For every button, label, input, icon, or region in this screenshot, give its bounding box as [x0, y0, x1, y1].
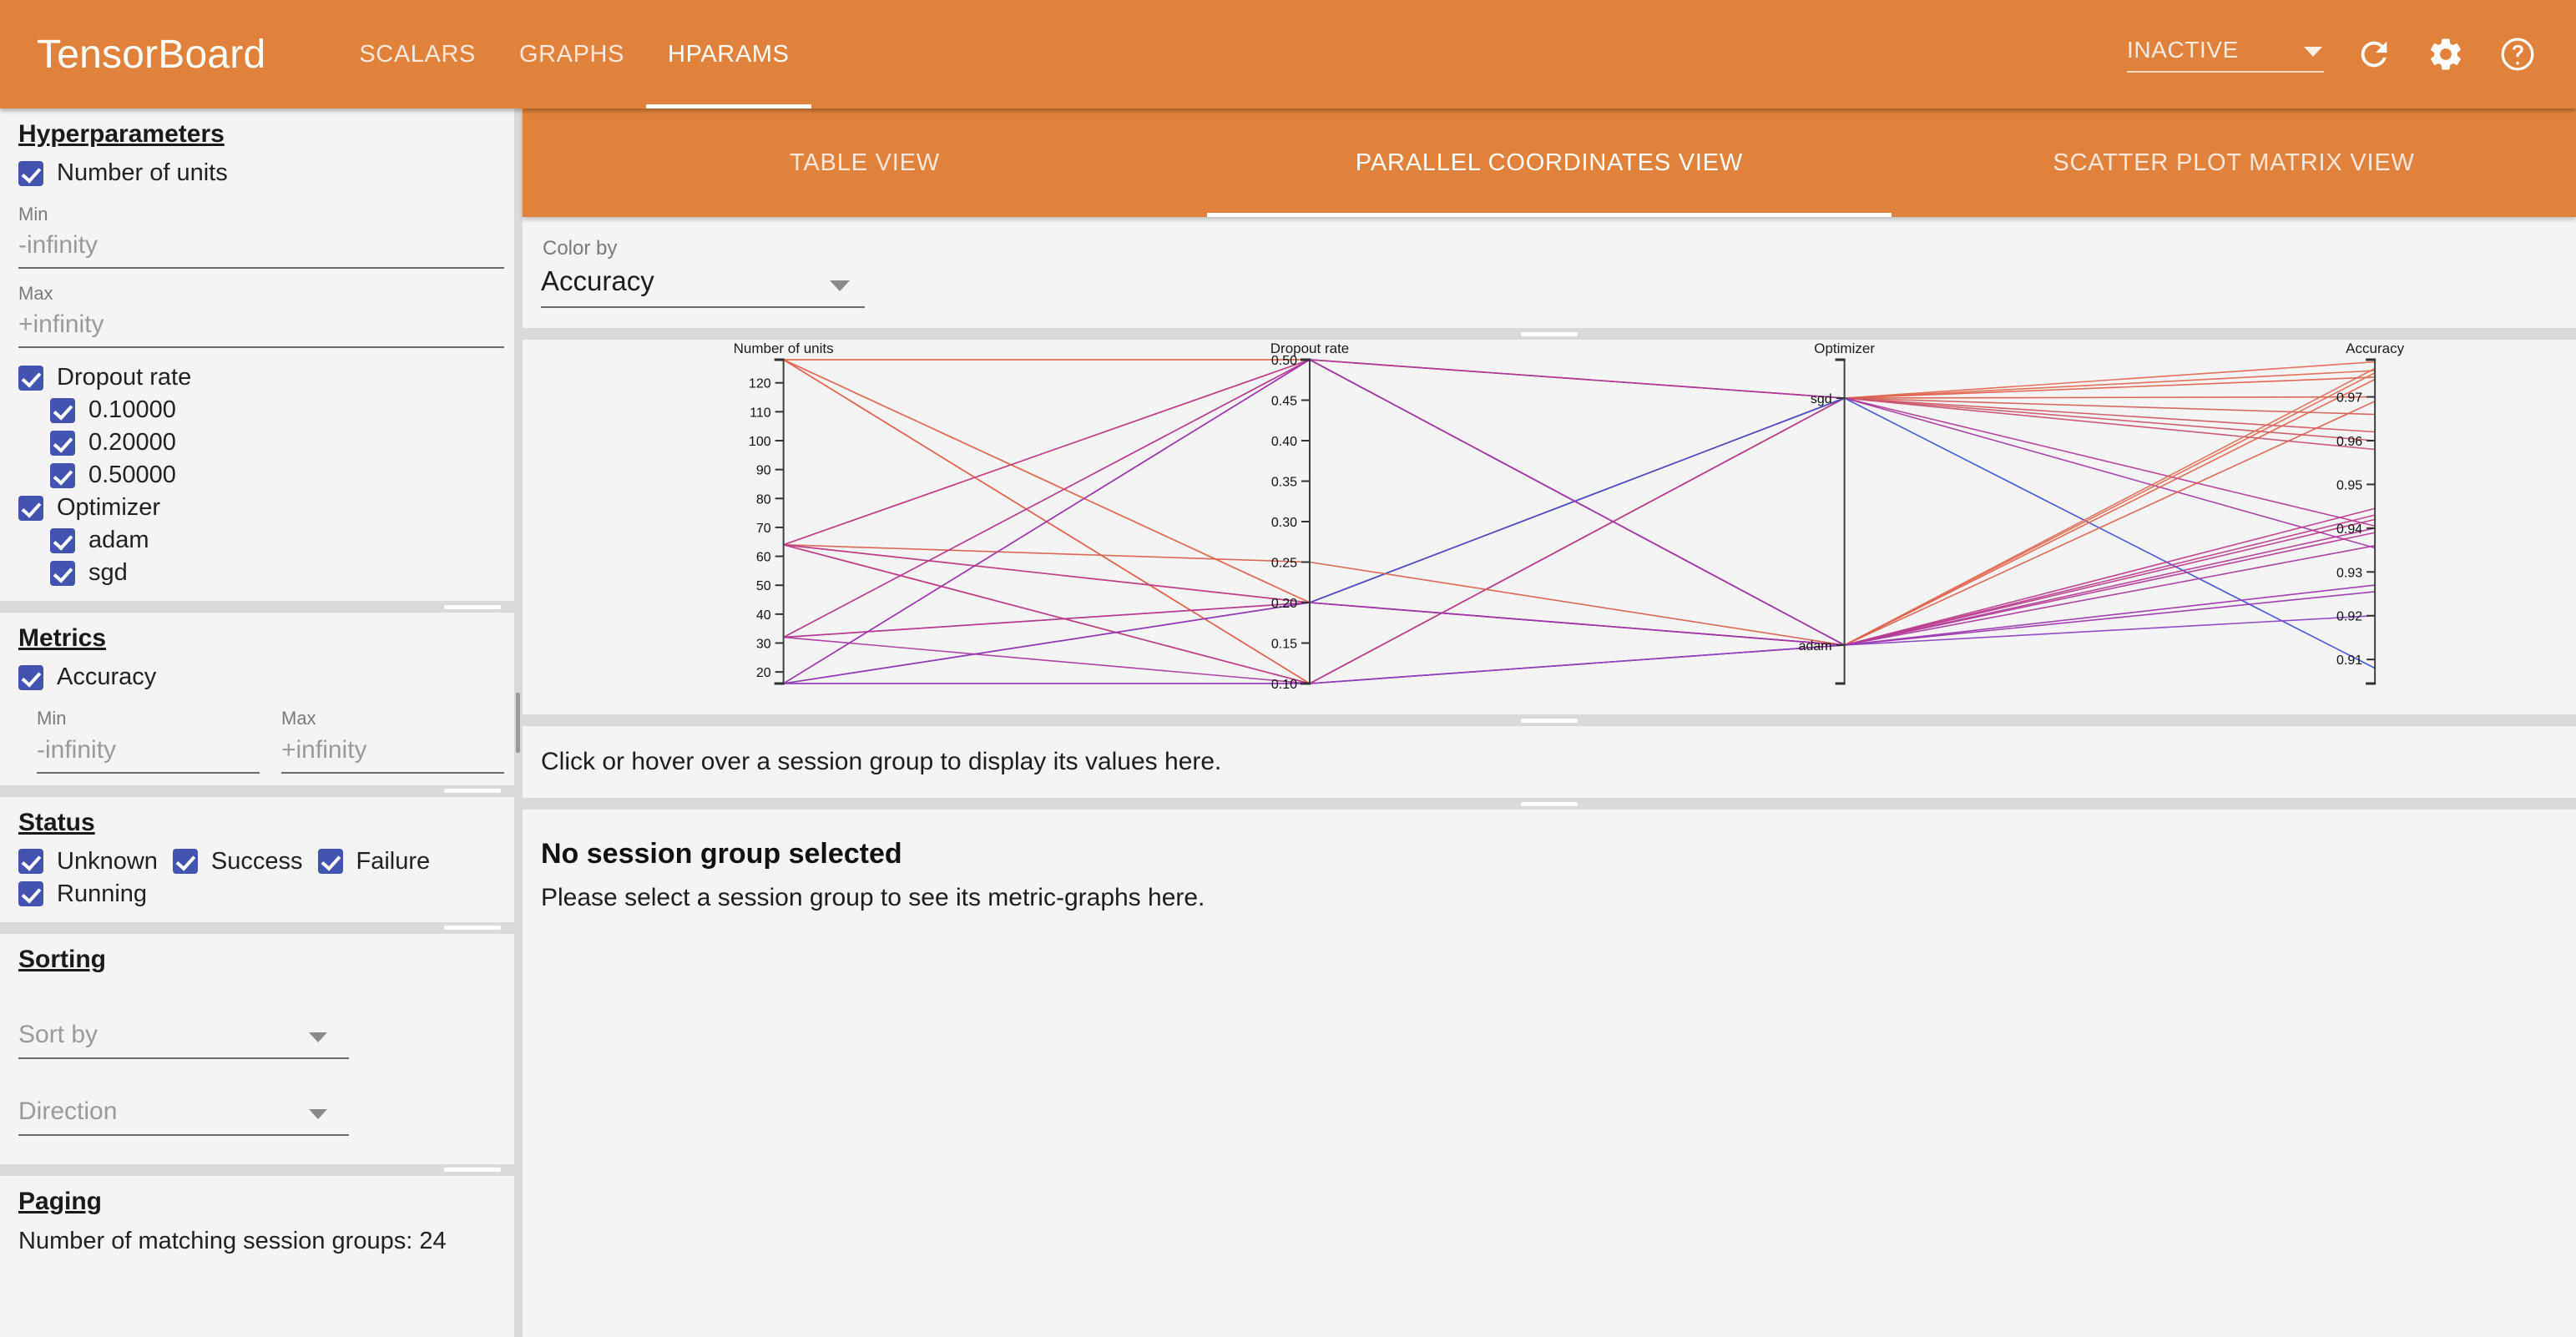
accuracy-min-field[interactable]: Min -infinity: [37, 694, 260, 773]
dropout-option-label: 0.20000: [88, 429, 176, 457]
chart-top-resize-grip[interactable]: [523, 328, 2576, 340]
series-line[interactable]: [784, 401, 2376, 645]
session-group-panel: No session group selected Please select …: [523, 810, 2576, 1337]
axis-tick-label: 0.40: [1271, 435, 1297, 449]
axis-tick-label: 0.93: [2336, 566, 2362, 580]
reload-mode-value: INACTIVE: [2127, 37, 2239, 63]
axis-tick-label: 0.92: [2336, 610, 2362, 624]
hyperparameters-card: Hyperparameters Number of units Min -inf…: [0, 108, 523, 601]
checkbox-dropout-0-1[interactable]: [50, 398, 75, 423]
session-panel-resize-grip[interactable]: [523, 798, 2576, 810]
status-option-row[interactable]: Success: [173, 845, 303, 878]
main-panel: TABLE VIEW PARALLEL COORDINATES VIEW SCA…: [523, 108, 2576, 1337]
series-line[interactable]: [784, 546, 2376, 684]
axis-tick-label: 0.35: [1271, 476, 1297, 490]
axis-title: Number of units: [734, 341, 834, 356]
sorting-resize-grip[interactable]: [0, 1164, 523, 1176]
series-line[interactable]: [784, 360, 2376, 684]
dropout-option-label: 0.50000: [88, 462, 176, 489]
axis-tick-label: sgd: [1811, 392, 1832, 406]
checkbox-dropout-0-2[interactable]: [50, 431, 75, 456]
paging-title: Paging: [18, 1176, 102, 1224]
num-units-min-field[interactable]: Min -infinity: [18, 189, 504, 269]
axis-tick-label: 0.45: [1271, 395, 1297, 409]
num-units-max-input[interactable]: +infinity: [18, 304, 504, 348]
series-line[interactable]: [784, 398, 2376, 684]
checkbox-status-success[interactable]: [173, 849, 198, 874]
series-line[interactable]: [784, 360, 2376, 684]
series-line[interactable]: [784, 515, 2376, 645]
axis-tick-label: 0.30: [1271, 516, 1297, 530]
optimizer-option-label: sgd: [88, 559, 128, 587]
accuracy-max-label: Max: [281, 709, 504, 729]
checkbox-dropout-0-5[interactable]: [50, 463, 75, 488]
axis-title: Optimizer: [1814, 341, 1875, 356]
status-options: Unknown Success Failure Running: [18, 845, 504, 911]
color-by-value: Accuracy: [541, 265, 654, 296]
status-option-label: Success: [211, 848, 303, 875]
chevron-down-icon: [2304, 47, 2322, 57]
dropout-option-row[interactable]: 0.20000: [18, 426, 504, 459]
session-panel-subtitle: Please select a session group to see its…: [541, 870, 2558, 912]
checkbox-metric-accuracy[interactable]: [18, 665, 43, 690]
axis-tick-label: 0.25: [1271, 557, 1297, 571]
axis-tick-label: 40: [756, 608, 771, 623]
series-line[interactable]: [784, 360, 2376, 645]
axis-tick-label: 60: [756, 551, 771, 565]
axis-tick-label: 0.15: [1271, 638, 1297, 652]
nav-tab-scalars[interactable]: SCALARS: [337, 0, 498, 108]
num-units-max-label: Max: [18, 284, 504, 304]
hyperparameters-resize-grip[interactable]: [0, 601, 523, 613]
app-body: Hyperparameters Number of units Min -inf…: [0, 108, 2576, 1337]
axis-tick-label: 120: [749, 377, 771, 391]
axis-tick-label: 0.50: [1271, 354, 1297, 368]
series-line[interactable]: [784, 398, 2376, 684]
axis-tick-label: 0.94: [2336, 522, 2362, 537]
chevron-down-icon: [830, 280, 850, 291]
hyperparameters-title: Hyperparameters: [18, 108, 225, 157]
sorting-title: Sorting: [18, 934, 106, 982]
paging-card: Paging Number of matching session groups…: [0, 1176, 523, 1337]
optimizer-option-row[interactable]: adam: [18, 524, 504, 557]
reload-mode-select[interactable]: INACTIVE: [2127, 37, 2324, 73]
refresh-button[interactable]: [2352, 33, 2396, 76]
num-units-min-label: Min: [18, 204, 504, 225]
sorting-card: Sorting Sort by Direction: [0, 934, 523, 1164]
dropout-option-row[interactable]: 0.50000: [18, 459, 504, 492]
dropout-option-row[interactable]: 0.10000: [18, 394, 504, 426]
top-bar-actions: INACTIVE: [2127, 33, 2576, 76]
accuracy-min-input[interactable]: -infinity: [37, 729, 260, 774]
hparam-optimizer-label: Optimizer: [57, 494, 160, 522]
series-line[interactable]: [784, 360, 2376, 645]
status-option-row[interactable]: Unknown: [18, 845, 158, 878]
num-units-max-field[interactable]: Max +infinity: [18, 269, 504, 348]
parallel-coordinates-plot[interactable]: Number of units2030405060708090100110120…: [523, 340, 2576, 710]
series-line[interactable]: [784, 592, 2376, 684]
tab-scatter-plot-matrix-view[interactable]: SCATTER PLOT MATRIX VIEW: [1892, 108, 2576, 217]
accuracy-max-field[interactable]: Max +infinity: [281, 694, 504, 773]
checkbox-status-failure[interactable]: [318, 849, 343, 874]
metric-accuracy-row[interactable]: Accuracy: [18, 661, 504, 694]
parallel-coordinates-chart-card: Number of units2030405060708090100110120…: [523, 340, 2576, 714]
axis-tick-label: 0.95: [2336, 478, 2362, 492]
accuracy-max-input[interactable]: +infinity: [281, 729, 504, 774]
hparam-number-of-units-label: Number of units: [57, 159, 228, 187]
sort-direction-value: Direction: [18, 1097, 117, 1125]
axis-tick-label: 0.96: [2336, 435, 2362, 449]
axis-tick-label: 0.91: [2336, 653, 2362, 668]
main-nav-tabs: SCALARS GRAPHS HPARAMS: [337, 0, 811, 108]
top-app-bar: TensorBoard SCALARS GRAPHS HPARAMS INACT…: [0, 0, 2576, 108]
axis-title: Accuracy: [2346, 341, 2404, 356]
view-tabs: TABLE VIEW PARALLEL COORDINATES VIEW SCA…: [523, 108, 2576, 217]
series-line[interactable]: [784, 616, 2376, 684]
help-icon: [2498, 35, 2537, 73]
series-line[interactable]: [784, 360, 2376, 645]
checkbox-status-unknown[interactable]: [18, 849, 43, 874]
series-line[interactable]: [784, 398, 2376, 638]
checkbox-optimizer[interactable]: [18, 496, 43, 521]
num-units-min-input[interactable]: -infinity: [18, 225, 504, 269]
metrics-title: Metrics: [18, 613, 106, 661]
hover-message-card: Click or hover over a session group to d…: [523, 726, 2576, 798]
checkbox-status-running[interactable]: [18, 881, 43, 906]
axis-tick-label: 30: [756, 638, 771, 652]
axis-tick-label: 50: [756, 579, 771, 593]
metrics-card: Metrics Accuracy Min -infinity Max +infi…: [0, 613, 523, 785]
axis-tick-label: 90: [756, 464, 771, 478]
axis-tick-label: adam: [1799, 639, 1832, 653]
matching-session-groups-count: Number of matching session groups: 24: [18, 1224, 504, 1255]
checkbox-optimizer-adam[interactable]: [50, 528, 75, 553]
nav-tab-graphs[interactable]: GRAPHS: [498, 0, 646, 108]
series-line[interactable]: [784, 398, 2376, 603]
gear-icon: [2427, 35, 2465, 73]
status-title: Status: [18, 797, 95, 845]
checkbox-optimizer-sgd[interactable]: [50, 561, 75, 586]
sidebar-resize-handle[interactable]: [514, 108, 523, 1337]
settings-button[interactable]: [2424, 33, 2467, 76]
tensorboard-app: TensorBoard SCALARS GRAPHS HPARAMS INACT…: [0, 0, 2576, 1337]
status-option-label: Running: [57, 880, 147, 908]
hparam-dropout-rate-row[interactable]: Dropout rate: [18, 361, 504, 394]
axis-tick-label: 110: [750, 406, 771, 420]
checkbox-number-of-units[interactable]: [18, 161, 43, 186]
nav-tab-hparams[interactable]: HPARAMS: [646, 0, 811, 108]
hparam-number-of-units-row[interactable]: Number of units: [18, 157, 504, 189]
axis-tick-label: 20: [756, 666, 771, 680]
help-button[interactable]: [2496, 33, 2539, 76]
hparam-dropout-rate-label: Dropout rate: [57, 364, 191, 391]
tab-parallel-coordinates-view[interactable]: PARALLEL COORDINATES VIEW: [1207, 108, 1892, 217]
axis-tick-label: 0.10: [1271, 678, 1297, 692]
color-by-label: Color by: [541, 237, 2576, 260]
filters-sidebar: Hyperparameters Number of units Min -inf…: [0, 108, 523, 1337]
session-panel-title: No session group selected: [541, 838, 2558, 870]
series-line[interactable]: [784, 360, 2376, 545]
sort-by-value: Sort by: [18, 1021, 98, 1048]
metrics-resize-grip[interactable]: [0, 785, 523, 797]
dropout-option-label: 0.10000: [88, 396, 176, 424]
tab-table-view[interactable]: TABLE VIEW: [523, 108, 1207, 217]
series-line[interactable]: [784, 360, 2376, 684]
hover-message: Click or hover over a session group to d…: [541, 748, 2558, 776]
checkbox-dropout-rate[interactable]: [18, 366, 43, 391]
hparam-optimizer-row[interactable]: Optimizer: [18, 492, 504, 524]
metric-accuracy-label: Accuracy: [57, 663, 156, 691]
status-option-label: Failure: [356, 848, 431, 875]
series-line[interactable]: [784, 360, 2376, 684]
axis-tick-label: 0.97: [2336, 391, 2362, 406]
axis-tick-label: 100: [749, 435, 771, 449]
color-by-select[interactable]: Accuracy: [541, 265, 865, 308]
status-option-label: Unknown: [57, 848, 158, 875]
status-option-row[interactable]: Running: [18, 878, 147, 911]
series-line[interactable]: [784, 398, 2376, 684]
color-by-card: Color by Accuracy: [523, 217, 2576, 328]
series-line[interactable]: [784, 532, 2376, 645]
accuracy-min-label: Min: [37, 709, 260, 729]
status-resize-grip[interactable]: [0, 922, 523, 934]
status-card: Status Unknown Success Failure: [0, 797, 523, 922]
optimizer-option-row[interactable]: sgd: [18, 557, 504, 589]
sort-direction-select[interactable]: Direction: [18, 1097, 349, 1136]
status-option-row[interactable]: Failure: [318, 845, 431, 878]
axis-tick-label: 80: [756, 492, 771, 507]
chevron-down-icon: [309, 1032, 327, 1042]
sort-by-select[interactable]: Sort by: [18, 1021, 349, 1059]
app-title: TensorBoard: [37, 32, 265, 78]
series-line[interactable]: [784, 360, 2376, 645]
axis-tick-label: 70: [756, 522, 771, 536]
optimizer-option-label: adam: [88, 527, 149, 554]
chart-bottom-resize-grip[interactable]: [523, 714, 2576, 726]
refresh-icon: [2355, 35, 2393, 73]
chevron-down-icon: [309, 1109, 327, 1119]
axis-tick-label: 0.20: [1271, 597, 1297, 611]
